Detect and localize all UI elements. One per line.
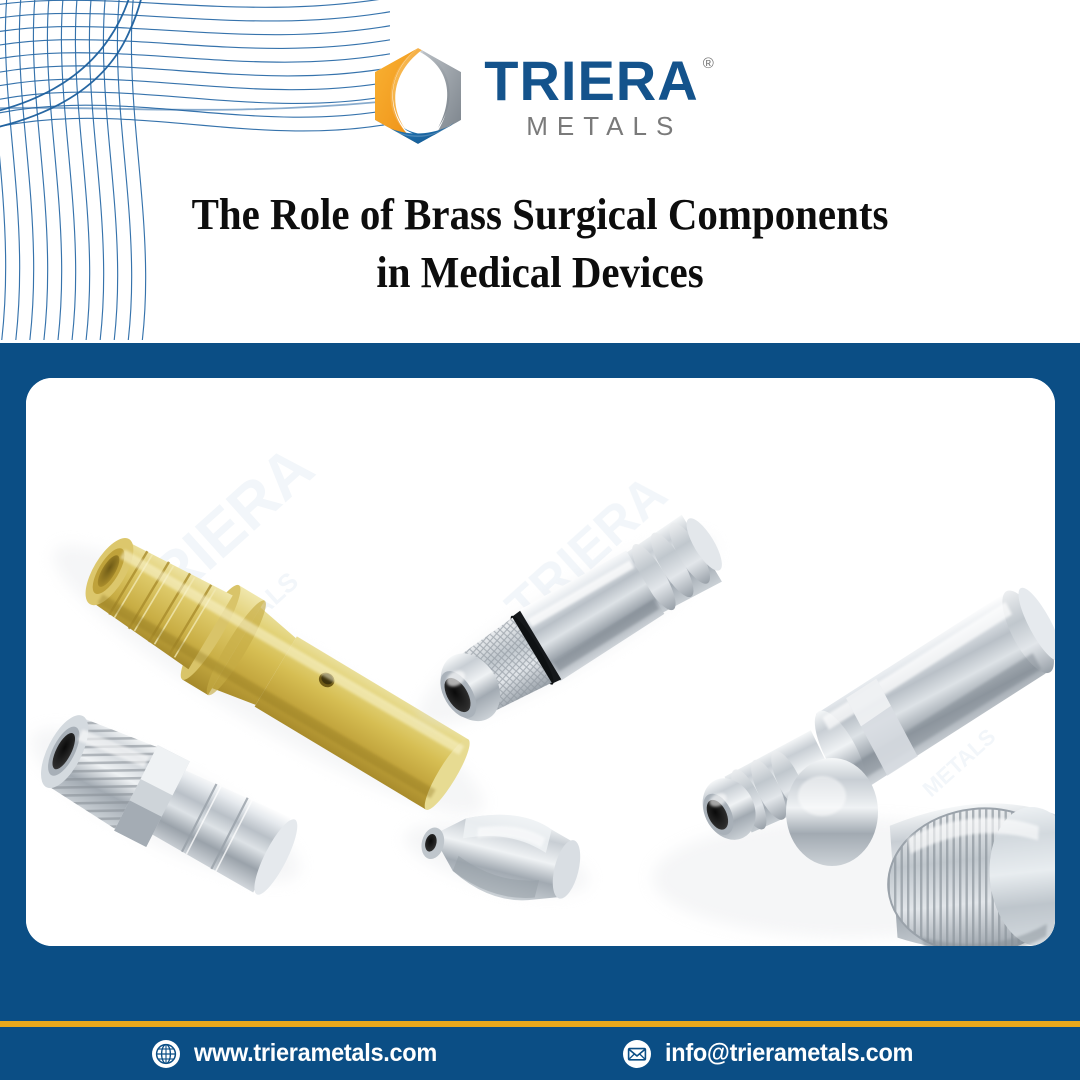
brand-logo: TRIERA ® METALS (0, 44, 1080, 148)
footer-website-label: www.trierametals.com (194, 1039, 437, 1068)
footer-website[interactable]: www.trierametals.com (151, 1039, 452, 1069)
registered-mark-icon: ® (703, 56, 714, 71)
triera-hexagon-logo-mark (366, 44, 470, 148)
footer-email-label: info@trierametals.com (665, 1039, 913, 1068)
envelope-icon (622, 1039, 652, 1069)
globe-icon (151, 1039, 181, 1069)
product-photo-svg: TRIERA METALS TRIERA TRIERA METALS (26, 378, 1055, 946)
brand-wordmark-group: TRIERA ® METALS (484, 53, 714, 139)
product-photo-card: TRIERA METALS TRIERA TRIERA METALS (26, 378, 1055, 946)
brand-sub-wordmark: METALS (526, 113, 682, 139)
page-header: TRIERA ® METALS The Role of Brass Surgic… (0, 0, 1080, 343)
brand-wordmark: TRIERA (484, 53, 698, 109)
page-title: The Role of Brass Surgical Components in… (38, 186, 1042, 302)
page-title-line-1: The Role of Brass Surgical Components (38, 186, 1042, 244)
page-footer: www.trierametals.com info@trierametals.c… (0, 1027, 1080, 1080)
product-photo: TRIERA METALS TRIERA TRIERA METALS (26, 378, 1055, 946)
page-title-line-2: in Medical Devices (38, 244, 1042, 302)
footer-email[interactable]: info@trierametals.com (622, 1039, 929, 1069)
